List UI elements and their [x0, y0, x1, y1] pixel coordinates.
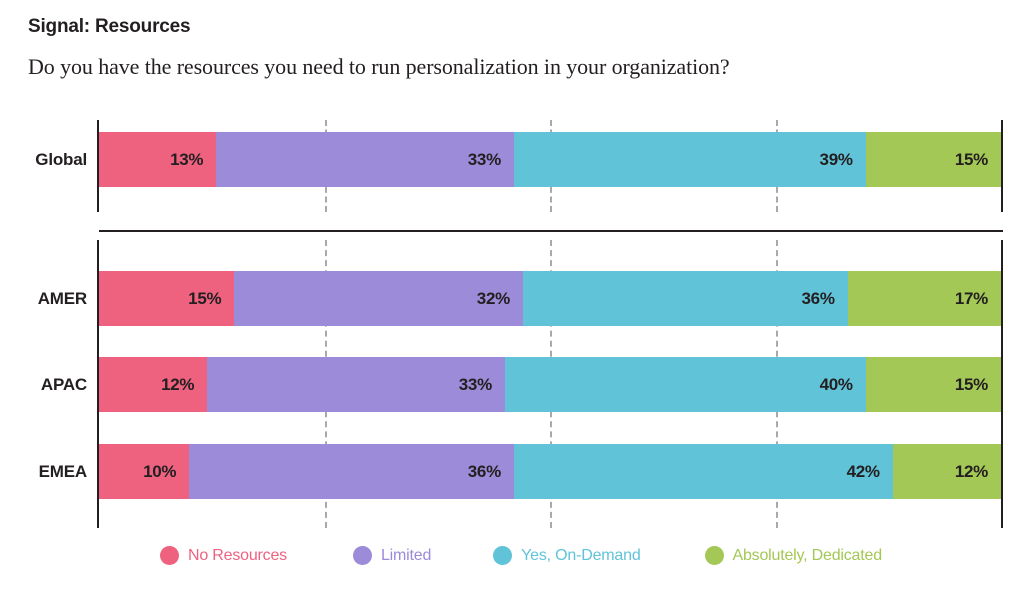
legend-swatch-icon [705, 546, 724, 565]
bar-segment[interactable]: 15% [866, 357, 1001, 412]
bar-row: APAC12%33%40%15% [0, 357, 1024, 412]
bar-track: 12%33%40%15% [99, 357, 1001, 412]
bar-segment[interactable]: 40% [505, 357, 866, 412]
bar-segment-value: 12% [955, 462, 1001, 482]
bar-segment[interactable]: 36% [189, 444, 514, 499]
bar-segment-value: 15% [955, 150, 1001, 170]
bar-segment-value: 12% [161, 375, 207, 395]
legend-label: Limited [381, 547, 431, 565]
bar-segment-value: 36% [468, 462, 514, 482]
legend-item[interactable]: Absolutely, Dedicated [705, 546, 882, 565]
chart-plot-area: Global13%33%39%15%AMER15%32%36%17%APAC12… [0, 0, 1024, 595]
bar-segment[interactable]: 36% [523, 271, 848, 326]
legend-swatch-icon [493, 546, 512, 565]
bar-track: 13%33%39%15% [99, 132, 1001, 187]
bar-segment-value: 42% [847, 462, 893, 482]
bar-segment[interactable]: 15% [99, 271, 234, 326]
legend-label: No Resources [188, 547, 287, 565]
bar-segment-value: 39% [820, 150, 866, 170]
bar-segment[interactable]: 15% [866, 132, 1001, 187]
bar-segment-value: 10% [143, 462, 189, 482]
bar-segment[interactable]: 33% [207, 357, 505, 412]
bar-track: 15%32%36%17% [99, 271, 1001, 326]
row-label-emea: EMEA [0, 462, 87, 482]
legend-label: Yes, On-Demand [521, 547, 640, 565]
group-divider [99, 230, 1003, 232]
bar-track: 10%36%42%12% [99, 444, 1001, 499]
bar-segment[interactable]: 42% [514, 444, 893, 499]
row-label-global: Global [0, 150, 87, 170]
bar-segment[interactable]: 39% [514, 132, 866, 187]
bar-segment-value: 36% [802, 289, 848, 309]
legend-item[interactable]: Yes, On-Demand [493, 546, 640, 565]
legend-item[interactable]: No Resources [160, 546, 287, 565]
chart-legend: No ResourcesLimitedYes, On-DemandAbsolut… [160, 546, 882, 565]
bar-segment[interactable]: 12% [99, 357, 207, 412]
bar-segment-value: 15% [188, 289, 234, 309]
legend-item[interactable]: Limited [353, 546, 431, 565]
bar-segment-value: 32% [477, 289, 523, 309]
bar-segment[interactable]: 33% [216, 132, 514, 187]
legend-swatch-icon [353, 546, 372, 565]
bar-row: AMER15%32%36%17% [0, 271, 1024, 326]
bar-segment[interactable]: 13% [99, 132, 216, 187]
bar-segment[interactable]: 17% [848, 271, 1001, 326]
bar-segment-value: 13% [170, 150, 216, 170]
row-label-amer: AMER [0, 289, 87, 309]
bar-segment-value: 15% [955, 375, 1001, 395]
bar-row: Global13%33%39%15% [0, 132, 1024, 187]
bar-row: EMEA10%36%42%12% [0, 444, 1024, 499]
bar-segment[interactable]: 32% [234, 271, 523, 326]
bar-segment-value: 33% [468, 150, 514, 170]
bar-segment-value: 40% [820, 375, 866, 395]
bar-segment[interactable]: 10% [99, 444, 189, 499]
bar-segment[interactable]: 12% [893, 444, 1001, 499]
bar-segment-value: 17% [955, 289, 1001, 309]
row-label-apac: APAC [0, 375, 87, 395]
legend-label: Absolutely, Dedicated [733, 547, 882, 565]
legend-swatch-icon [160, 546, 179, 565]
bar-segment-value: 33% [459, 375, 505, 395]
